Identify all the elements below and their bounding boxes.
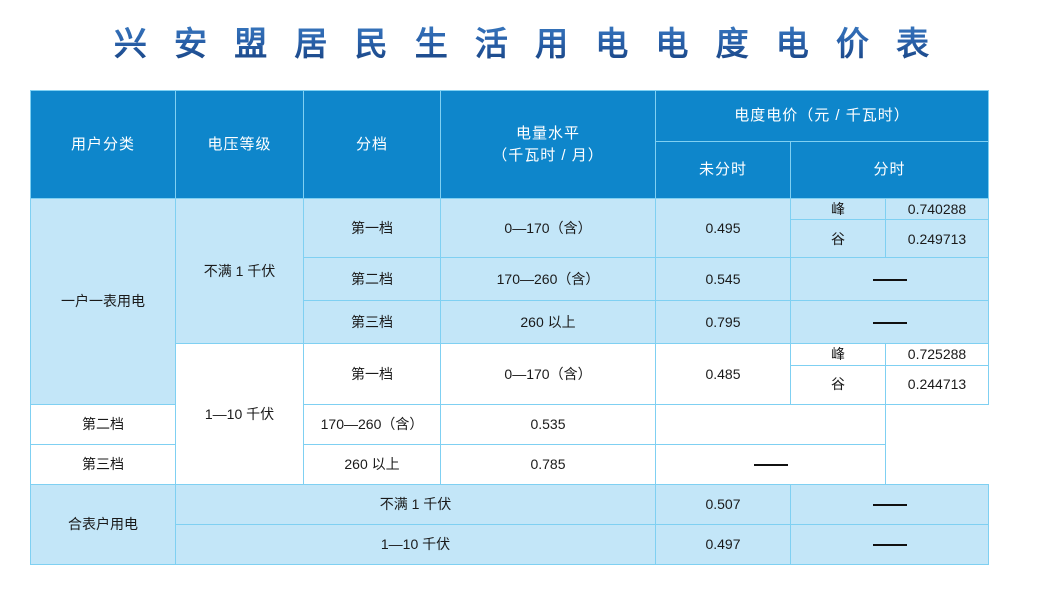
cell-tou-blank-5 [656, 404, 886, 444]
cell-category-household: 一户一表用电 [31, 199, 176, 405]
cell-level-6: 260 以上 [304, 444, 441, 484]
cell-flat-price-4: 0.485 [656, 344, 791, 404]
header-flat: 未分时 [656, 142, 791, 199]
cell-tou-label-valley-2: 谷 [791, 365, 886, 404]
dash-icon [873, 279, 907, 281]
header-tier: 分档 [304, 91, 441, 199]
cell-flat-price-2: 0.545 [656, 258, 791, 301]
cell-tou-dash-6 [656, 444, 886, 484]
table-header: 用户分类 电压等级 分档 电量水平 （千瓦时 / 月） 电度电价（元 / 千瓦时… [31, 91, 989, 199]
dash-icon [873, 544, 907, 546]
cell-tier-6: 第三档 [31, 444, 176, 484]
cell-tou-dash-3 [791, 301, 989, 344]
table-row: 合表户用电 不满 1 千伏 0.507 [31, 484, 989, 524]
table-row: 一户一表用电 不满 1 千伏 第一档 0—170（含） 0.495 峰 0.74… [31, 199, 989, 220]
cell-tou-label-peak-2: 峰 [791, 344, 886, 365]
cell-tier-1: 第一档 [304, 199, 441, 258]
header-level-line2: （千瓦时 / 月） [492, 147, 604, 164]
page-title: 兴 安 盟 居 民 生 活 用 电 电 度 电 价 表 [105, 22, 938, 66]
cell-tier-3: 第三档 [304, 301, 441, 344]
cell-level-1: 0—170（含） [441, 199, 656, 258]
cell-category-combined: 合表户用电 [31, 484, 176, 564]
dash-icon [754, 464, 788, 466]
price-table-page: 兴 安 盟 居 民 生 活 用 电 电 度 电 价 表 用户分类 电压等级 分档… [0, 0, 1043, 613]
cell-level-3: 260 以上 [441, 301, 656, 344]
rate-table-wrap: 用户分类 电压等级 分档 电量水平 （千瓦时 / 月） 电度电价（元 / 千瓦时… [30, 90, 988, 565]
header-voltage: 电压等级 [176, 91, 304, 199]
cell-combined-voltage-2: 1—10 千伏 [176, 524, 656, 564]
cell-voltage-1to10kv: 1—10 千伏 [176, 344, 304, 484]
cell-voltage-under1kv: 不满 1 千伏 [176, 199, 304, 344]
table-row: 第二档 170—260（含） 0.535 [31, 404, 989, 444]
cell-level-5: 170—260（含） [304, 404, 441, 444]
dash-icon [873, 322, 907, 324]
cell-tier-5: 第二档 [31, 404, 176, 444]
header-level-line1: 电量水平 [516, 125, 580, 142]
page-title-wrap: 兴 安 盟 居 民 生 活 用 电 电 度 电 价 表 [0, 22, 1043, 66]
cell-tier-4: 第一档 [304, 344, 441, 404]
table-body: 一户一表用电 不满 1 千伏 第一档 0—170（含） 0.495 峰 0.74… [31, 199, 989, 565]
cell-combined-flat-1: 0.507 [656, 484, 791, 524]
header-price-group: 电度电价（元 / 千瓦时） [656, 91, 989, 142]
cell-tou-label-valley-1: 谷 [791, 220, 886, 258]
cell-level-4: 0—170（含） [441, 344, 656, 404]
header-row-1: 用户分类 电压等级 分档 电量水平 （千瓦时 / 月） 电度电价（元 / 千瓦时… [31, 91, 989, 142]
cell-tou-value-peak-1: 0.740288 [886, 199, 989, 220]
header-level: 电量水平 （千瓦时 / 月） [441, 91, 656, 199]
cell-flat-price-1: 0.495 [656, 199, 791, 258]
cell-flat-price-3: 0.795 [656, 301, 791, 344]
cell-tou-label-peak-1: 峰 [791, 199, 886, 220]
cell-flat-price-5: 0.535 [441, 404, 656, 444]
cell-combined-voltage-1: 不满 1 千伏 [176, 484, 656, 524]
electricity-rate-table: 用户分类 电压等级 分档 电量水平 （千瓦时 / 月） 电度电价（元 / 千瓦时… [30, 90, 989, 565]
cell-tou-value-valley-2: 0.244713 [886, 365, 989, 404]
cell-level-2: 170—260（含） [441, 258, 656, 301]
cell-tou-value-valley-1: 0.249713 [886, 220, 989, 258]
cell-combined-dash-2 [791, 524, 989, 564]
cell-flat-price-6: 0.785 [441, 444, 656, 484]
cell-combined-dash-1 [791, 484, 989, 524]
cell-tier-2: 第二档 [304, 258, 441, 301]
cell-tou-dash-2 [791, 258, 989, 301]
dash-icon [873, 504, 907, 506]
cell-tou-value-peak-2: 0.725288 [886, 344, 989, 365]
cell-combined-flat-2: 0.497 [656, 524, 791, 564]
table-row: 第三档 260 以上 0.785 [31, 444, 989, 484]
header-tou: 分时 [791, 142, 989, 199]
header-category: 用户分类 [31, 91, 176, 199]
